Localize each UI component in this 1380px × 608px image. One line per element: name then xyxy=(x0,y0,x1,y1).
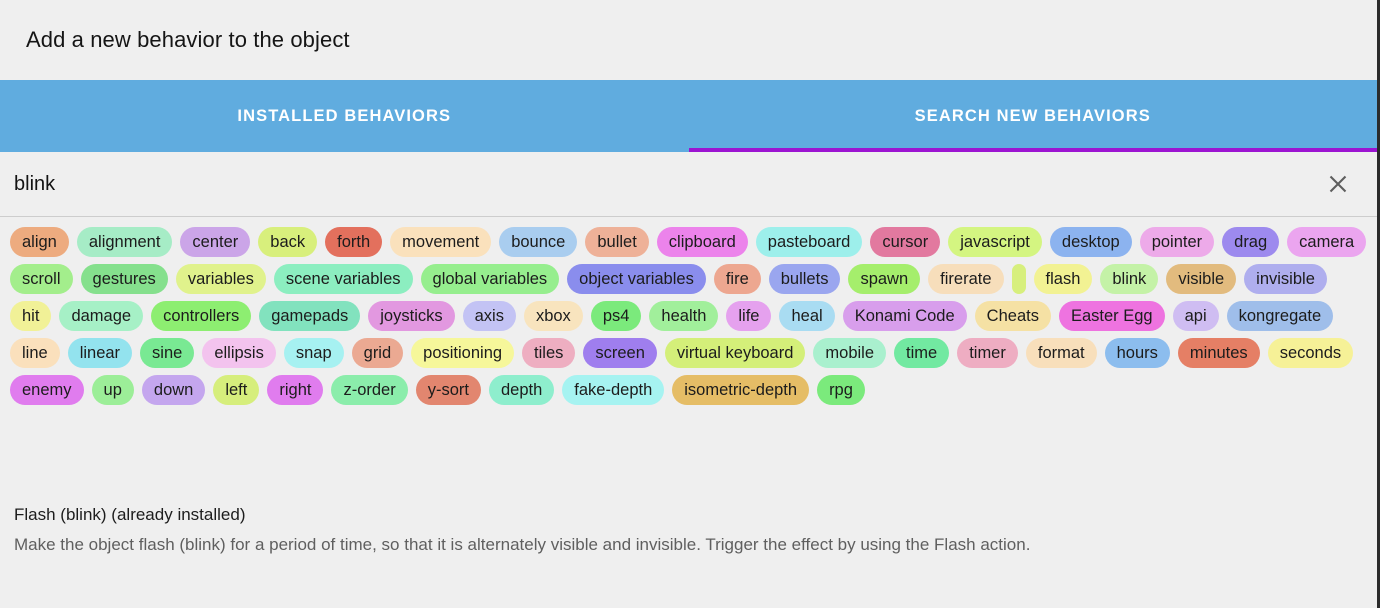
dialog-header: Add a new behavior to the object xyxy=(0,0,1377,80)
behavior-description: Flash (blink) (already installed) Make t… xyxy=(14,505,1363,556)
tag-chip[interactable]: variables xyxy=(176,264,266,294)
tag-chip[interactable]: depth xyxy=(489,375,554,405)
tag-chip[interactable]: enemy xyxy=(10,375,84,405)
tag-chip[interactable]: xbox xyxy=(524,301,583,331)
tag-chip[interactable]: linear xyxy=(68,338,132,368)
tag-chip[interactable]: forth xyxy=(325,227,382,257)
add-behavior-dialog: Add a new behavior to the object INSTALL… xyxy=(0,0,1380,608)
tab-search-new-behaviors[interactable]: SEARCH NEW BEHAVIORS xyxy=(689,80,1378,152)
tag-chip[interactable]: Konami Code xyxy=(843,301,967,331)
tab-search-new-behaviors-label: SEARCH NEW BEHAVIORS xyxy=(915,107,1151,126)
tag-chip[interactable]: scene variables xyxy=(274,264,413,294)
tag-chip[interactable]: Cheats xyxy=(975,301,1051,331)
clear-search-button[interactable] xyxy=(1321,167,1355,201)
tag-chip[interactable]: pasteboard xyxy=(756,227,863,257)
tag-chip[interactable]: bounce xyxy=(499,227,577,257)
tag-chip[interactable]: timer xyxy=(957,338,1018,368)
tag-chip[interactable]: virtual keyboard xyxy=(665,338,805,368)
tag-chip[interactable]: right xyxy=(267,375,323,405)
tag-chip[interactable]: spawn xyxy=(848,264,920,294)
tag-chip[interactable]: drag xyxy=(1222,227,1279,257)
tag-chip[interactable]: ps4 xyxy=(591,301,642,331)
tag-chip[interactable]: api xyxy=(1173,301,1219,331)
tag-chip[interactable]: z-order xyxy=(331,375,407,405)
tag-chip[interactable]: tiles xyxy=(522,338,575,368)
tag-chip[interactable]: javascript xyxy=(948,227,1042,257)
tag-chip[interactable]: back xyxy=(258,227,317,257)
close-icon xyxy=(1327,173,1349,195)
tag-chip[interactable]: scroll xyxy=(10,264,73,294)
tag-chip[interactable]: firerate xyxy=(928,264,1003,294)
tag-chip[interactable]: hours xyxy=(1105,338,1170,368)
tag-chip[interactable]: kongregate xyxy=(1227,301,1334,331)
tag-cloud: alignalignmentcenterbackforthmovementbou… xyxy=(0,217,1377,411)
tag-chip[interactable]: line xyxy=(10,338,60,368)
tag-chip[interactable]: positioning xyxy=(411,338,514,368)
tag-chip[interactable]: desktop xyxy=(1050,227,1132,257)
tag-chip[interactable]: minutes xyxy=(1178,338,1260,368)
tag-chip[interactable] xyxy=(1012,264,1026,294)
tag-chip[interactable]: fire xyxy=(714,264,761,294)
tag-chip[interactable]: down xyxy=(142,375,205,405)
tag-chip[interactable]: alignment xyxy=(77,227,173,257)
tag-chip[interactable]: pointer xyxy=(1140,227,1214,257)
tag-chip[interactable]: camera xyxy=(1287,227,1366,257)
tag-chip[interactable]: center xyxy=(180,227,250,257)
tag-chip[interactable]: blink xyxy=(1100,264,1158,294)
tag-chip[interactable]: hit xyxy=(10,301,51,331)
tag-chip[interactable]: rpg xyxy=(817,375,865,405)
tag-chip[interactable]: controllers xyxy=(151,301,251,331)
active-tab-indicator xyxy=(689,148,1378,152)
tag-chip[interactable]: grid xyxy=(352,338,404,368)
tag-chip[interactable]: damage xyxy=(59,301,143,331)
tag-chip[interactable]: align xyxy=(10,227,69,257)
tag-chip[interactable]: object variables xyxy=(567,264,706,294)
tag-chip[interactable]: time xyxy=(894,338,949,368)
tag-chip[interactable]: clipboard xyxy=(657,227,748,257)
page-title: Add a new behavior to the object xyxy=(26,27,350,53)
tag-chip[interactable]: cursor xyxy=(870,227,940,257)
tag-chip[interactable]: fake-depth xyxy=(562,375,664,405)
tab-installed-behaviors-label: INSTALLED BEHAVIORS xyxy=(237,107,451,126)
tab-installed-behaviors[interactable]: INSTALLED BEHAVIORS xyxy=(0,80,689,152)
tag-chip[interactable]: seconds xyxy=(1268,338,1353,368)
tag-chip[interactable]: bullet xyxy=(585,227,648,257)
tag-chip[interactable]: up xyxy=(92,375,134,405)
tag-chip[interactable]: gamepads xyxy=(259,301,360,331)
tag-chip[interactable]: visible xyxy=(1166,264,1236,294)
tag-chip[interactable]: left xyxy=(213,375,259,405)
search-input[interactable] xyxy=(14,169,1311,199)
tag-chip[interactable]: format xyxy=(1026,338,1097,368)
tag-chip[interactable]: axis xyxy=(463,301,516,331)
tag-chip[interactable]: joysticks xyxy=(368,301,454,331)
tag-chip[interactable]: isometric-depth xyxy=(672,375,809,405)
tag-chip[interactable]: y-sort xyxy=(416,375,481,405)
tag-chip[interactable]: snap xyxy=(284,338,344,368)
tab-bar: INSTALLED BEHAVIORS SEARCH NEW BEHAVIORS xyxy=(0,80,1377,152)
tag-chip[interactable]: Easter Egg xyxy=(1059,301,1165,331)
tag-chip[interactable]: life xyxy=(726,301,771,331)
tag-chip[interactable]: mobile xyxy=(813,338,886,368)
search-bar xyxy=(0,152,1377,217)
tag-chip[interactable]: heal xyxy=(779,301,834,331)
tag-chip[interactable]: bullets xyxy=(769,264,841,294)
tag-chip[interactable]: ellipsis xyxy=(202,338,276,368)
tag-chip[interactable]: sine xyxy=(140,338,194,368)
tag-chip[interactable]: global variables xyxy=(421,264,560,294)
tag-chip[interactable]: gestures xyxy=(81,264,168,294)
behavior-description-title: Flash (blink) (already installed) xyxy=(14,505,1363,525)
tag-chip[interactable]: flash xyxy=(1034,264,1093,294)
behavior-description-body: Make the object flash (blink) for a peri… xyxy=(14,534,1363,556)
tag-chip[interactable]: movement xyxy=(390,227,491,257)
tag-chip[interactable]: invisible xyxy=(1244,264,1327,294)
tag-chip[interactable]: screen xyxy=(583,338,657,368)
tag-chip[interactable]: health xyxy=(649,301,718,331)
